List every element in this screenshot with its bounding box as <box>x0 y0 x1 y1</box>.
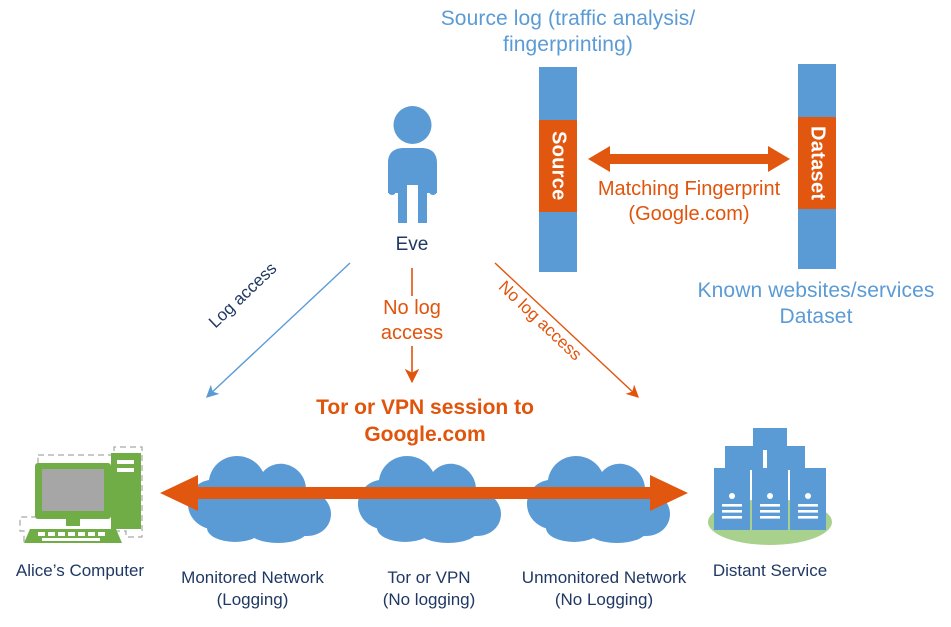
unmonitored-network-label-line2: (No Logging) <box>505 589 703 611</box>
no-log-access-right-arrow-icon <box>490 258 650 406</box>
no-log-access-center-line2: access <box>352 321 472 346</box>
source-bar-top-segment <box>539 67 577 120</box>
eve-label: Eve <box>362 233 462 257</box>
alice-computer-label: Alice’s Computer <box>0 560 160 582</box>
unmonitored-network-label: Unmonitored Network (No Logging) <box>505 567 703 611</box>
session-double-arrow-icon <box>160 472 688 514</box>
dataset-bar: Dataset <box>798 64 836 269</box>
dataset-bar-label: Dataset <box>806 126 829 200</box>
distant-service-label: Distant Service <box>700 560 840 582</box>
monitored-network-label-line1: Monitored Network <box>160 567 345 589</box>
no-log-access-center-line1: No log <box>352 296 472 321</box>
monitored-network-label-line2: (Logging) <box>160 589 345 611</box>
source-bar-label: Source <box>547 131 570 201</box>
tor-vpn-label-line2: (No logging) <box>355 589 503 611</box>
tor-vpn-label: Tor or VPN (No logging) <box>355 567 503 611</box>
dataset-bar-bottom-segment <box>798 209 836 269</box>
eve-person-icon <box>370 105 455 225</box>
source-log-title: Source log (traffic analysis/ fingerprin… <box>398 6 738 58</box>
no-log-access-center-label: No log access <box>352 296 472 346</box>
distant-service-label-line1: Distant Service <box>700 560 840 582</box>
server-stack-icon <box>700 422 840 547</box>
tor-vpn-label-line1: Tor or VPN <box>355 567 503 589</box>
source-log-title-line2: fingerprinting) <box>398 32 738 58</box>
session-title-line1: Tor or VPN session to <box>275 394 575 421</box>
source-bar: Source <box>539 67 577 272</box>
monitored-network-label: Monitored Network (Logging) <box>160 567 345 611</box>
dataset-caption: Known websites/services Dataset <box>668 278 951 330</box>
source-bar-middle-segment: Source <box>539 120 577 212</box>
dataset-bar-top-segment <box>798 64 836 117</box>
dataset-bar-middle-segment: Dataset <box>798 117 836 209</box>
dataset-caption-line1: Known websites/services <box>668 278 951 304</box>
session-title: Tor or VPN session to Google.com <box>275 394 575 448</box>
alice-computer-label-line1: Alice’s Computer <box>0 560 160 582</box>
diagram-canvas: Source log (traffic analysis/ fingerprin… <box>0 0 951 627</box>
unmonitored-network-label-line1: Unmonitored Network <box>505 567 703 589</box>
matching-fingerprint-line1: Matching Fingerprint <box>578 177 800 202</box>
matching-fingerprint-line2: (Google.com) <box>578 202 800 227</box>
matching-fingerprint-label: Matching Fingerprint (Google.com) <box>578 177 800 227</box>
desktop-computer-icon <box>18 445 146 548</box>
matching-fingerprint-double-arrow-icon <box>588 140 790 178</box>
session-title-line2: Google.com <box>275 421 575 448</box>
source-log-title-line1: Source log (traffic analysis/ <box>398 6 738 32</box>
dataset-caption-line2: Dataset <box>668 304 951 330</box>
